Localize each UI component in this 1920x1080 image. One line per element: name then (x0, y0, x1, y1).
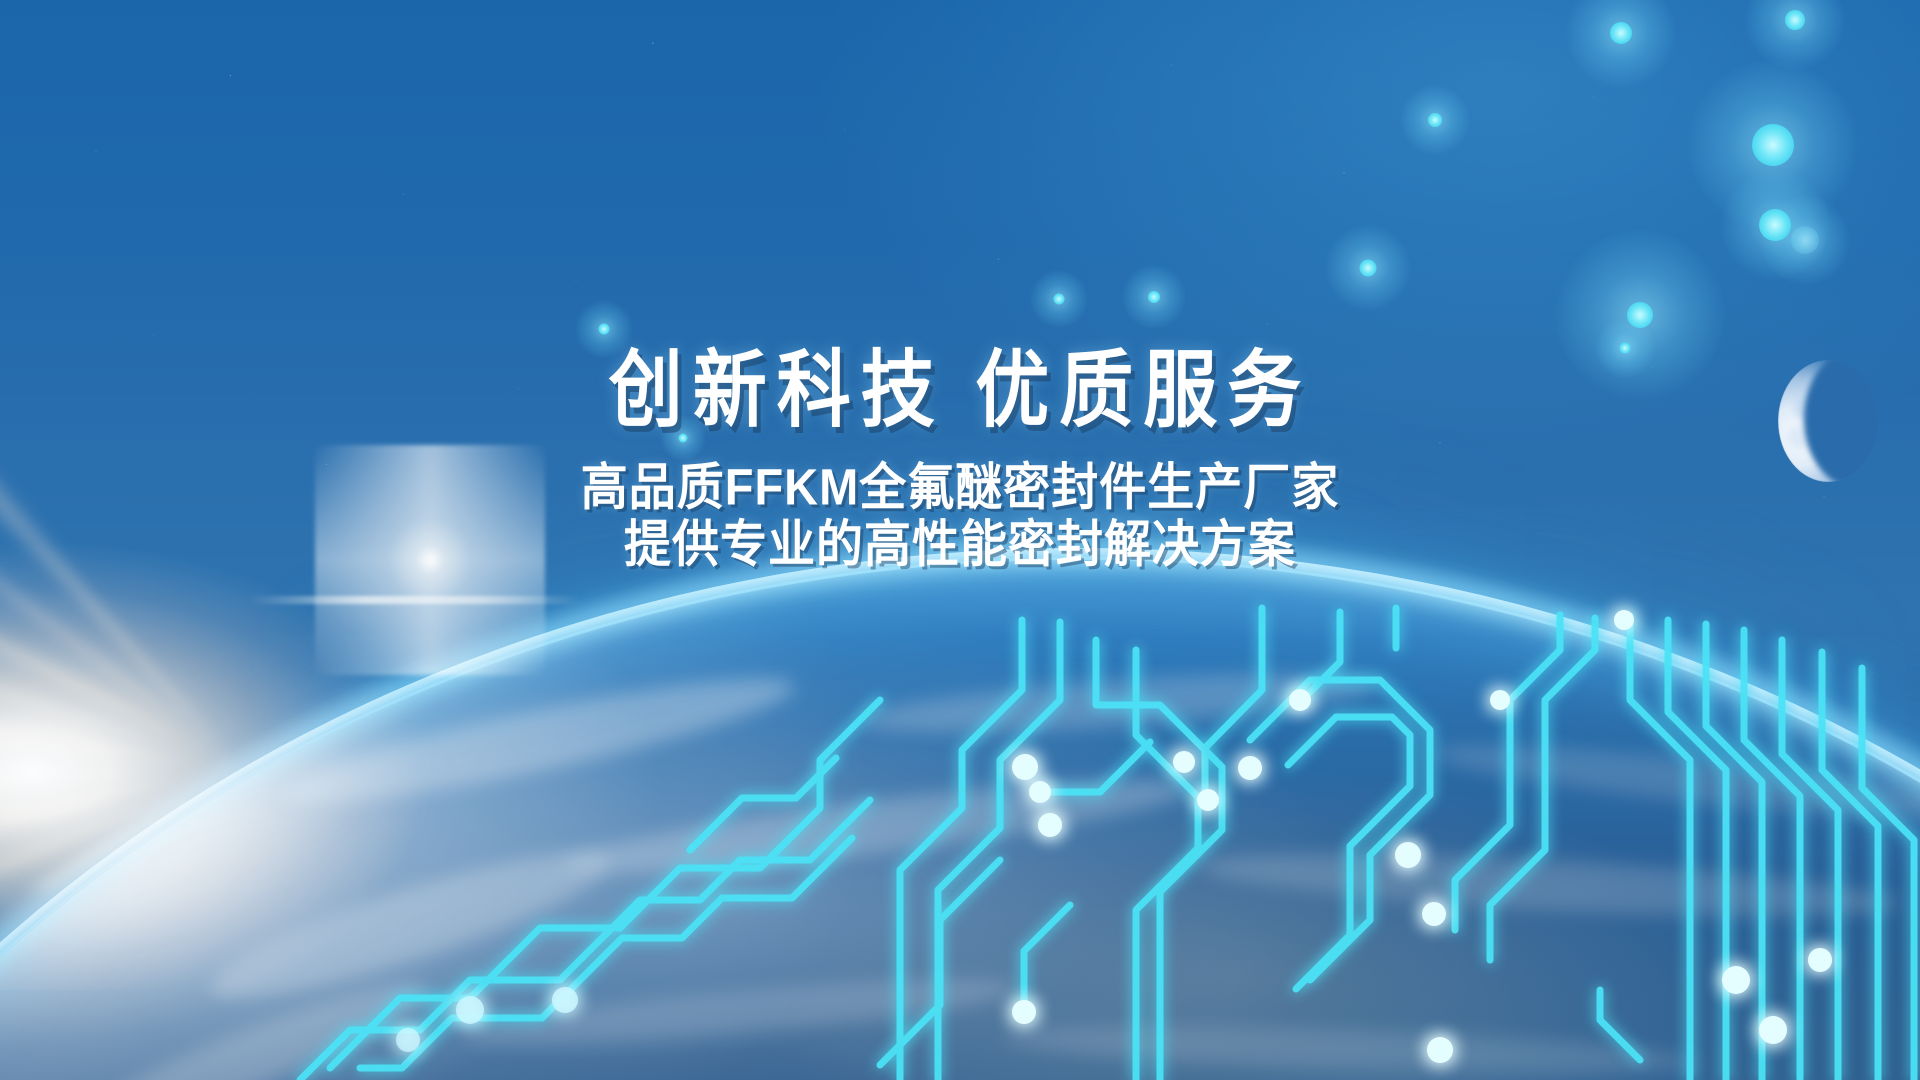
hero-banner: 创新科技 优质服务 高品质FFKM全氟醚密封件生产厂家 提供专业的高性能密封解决… (0, 0, 1920, 1080)
page-title: 创新科技 优质服务 (0, 345, 1920, 436)
subtitle-line-1: 高品质FFKM全氟醚密封件生产厂家 (0, 459, 1920, 515)
subtitle-line-2: 提供专业的高性能密封解决方案 (0, 516, 1920, 572)
